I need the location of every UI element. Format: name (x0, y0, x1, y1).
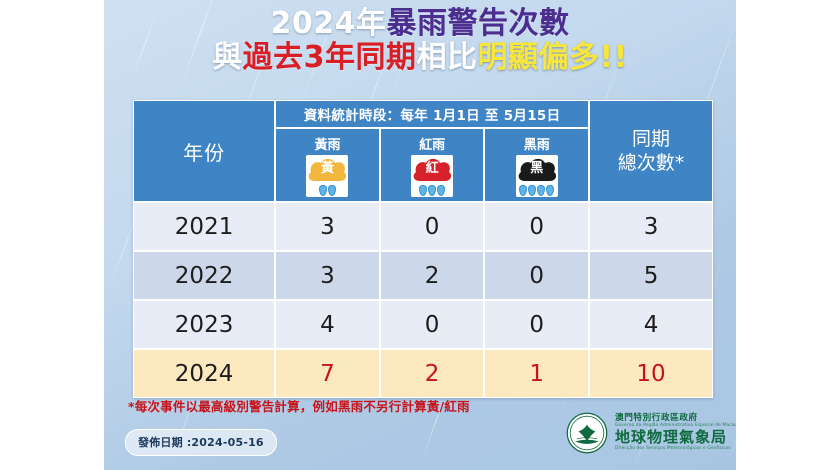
raindrops-red (411, 185, 453, 196)
yellow-rain-glyph: 黃 (306, 162, 348, 175)
title-line-1: 2024年暴雨警告次數 (104, 8, 736, 40)
title-seg-emphasis: 明顯偏多!! (478, 40, 628, 75)
yellow-rainstorm-warning-icon: 黃 (306, 155, 348, 197)
logo-bureau-pt: Direcção dos Serviços Meteorológicos e G… (615, 447, 736, 451)
raindrops-black (516, 185, 558, 196)
row-year: 2021 (133, 202, 275, 251)
title-seg-warnings: 暴雨警告次數 (387, 6, 570, 41)
row-red: 2 (380, 251, 485, 300)
title-seg-year: 2024年 (271, 6, 387, 41)
logo-bureau-zh: 地球物理氣象局 (615, 430, 736, 445)
table-footnote: *每次事件以最高級別警告計算，例如黑雨不另行計算黃/紅雨 (128, 396, 470, 415)
row-red: 0 (380, 300, 485, 349)
row-total: 10 (589, 349, 713, 398)
raindrops-yellow (306, 185, 348, 196)
header-col-yellow-rain: 黃雨 黃 (275, 128, 380, 202)
header-col-red-rain-label: 紅雨 (381, 134, 484, 153)
row-total: 5 (589, 251, 713, 300)
title-seg-compare: 相比 (417, 40, 478, 75)
row-year: 2022 (133, 251, 275, 300)
logo-gov-zh: 澳門特別行政區政府 (615, 414, 736, 423)
macau-government-seal-icon (566, 412, 608, 454)
red-rainstorm-warning-icon: 紅 (411, 155, 453, 197)
row-black: 1 (484, 349, 589, 398)
row-year: 2024 (133, 349, 275, 398)
header-col-black-rain-label: 黑雨 (485, 134, 588, 153)
slide-canvas: 2024年暴雨警告次數 與過去3年同期相比明顯偏多!! 年份 資料統計時段：每年… (104, 0, 736, 470)
page-title: 2024年暴雨警告次數 與過去3年同期相比明顯偏多!! (104, 8, 736, 75)
row-total: 4 (589, 300, 713, 349)
row-yellow: 3 (275, 251, 380, 300)
header-period: 資料統計時段：每年 1月1日 至 5月15日 (275, 100, 589, 128)
table-row: 2021 3 0 0 3 (133, 202, 713, 251)
row-black: 0 (484, 251, 589, 300)
header-total-line1: 同期 (632, 128, 670, 150)
header-year: 年份 (133, 100, 275, 202)
row-red: 2 (380, 349, 485, 398)
black-rainstorm-warning-icon: 黑 (516, 155, 558, 197)
row-yellow: 3 (275, 202, 380, 251)
red-rain-glyph: 紅 (411, 162, 453, 175)
title-seg-past3years: 過去3年同期 (243, 40, 417, 75)
row-total: 3 (589, 202, 713, 251)
smg-logo-text: 澳門特別行政區政府 Governo da Região Administrati… (615, 414, 736, 451)
header-total-line2: 總次數* (618, 152, 685, 174)
row-black: 0 (484, 202, 589, 251)
row-red: 0 (380, 202, 485, 251)
publish-date-badge: 發佈日期 :2024-05-16 (125, 429, 277, 456)
table-row-highlighted: 2024 7 2 1 10 (133, 349, 713, 398)
header-col-black-rain: 黑雨 黑 (484, 128, 589, 202)
black-rain-glyph: 黑 (516, 162, 558, 175)
row-black: 0 (484, 300, 589, 349)
smg-logo: 澳門特別行政區政府 Governo da Região Administrati… (566, 412, 736, 454)
header-col-yellow-rain-label: 黃雨 (276, 134, 379, 153)
row-yellow: 4 (275, 300, 380, 349)
header-col-red-rain: 紅雨 紅 (380, 128, 485, 202)
row-year: 2023 (133, 300, 275, 349)
rainstorm-warning-table: 年份 資料統計時段：每年 1月1日 至 5月15日 同期 總次數* 黃雨 黃 (133, 100, 713, 398)
table-row: 2023 4 0 0 4 (133, 300, 713, 349)
header-total: 同期 總次數* (589, 100, 713, 202)
title-line-2: 與過去3年同期相比明顯偏多!! (104, 42, 736, 74)
title-seg-with: 與 (212, 40, 243, 75)
table-header-period-row: 年份 資料統計時段：每年 1月1日 至 5月15日 同期 總次數* (133, 100, 713, 128)
table-row: 2022 3 2 0 5 (133, 251, 713, 300)
row-yellow: 7 (275, 349, 380, 398)
